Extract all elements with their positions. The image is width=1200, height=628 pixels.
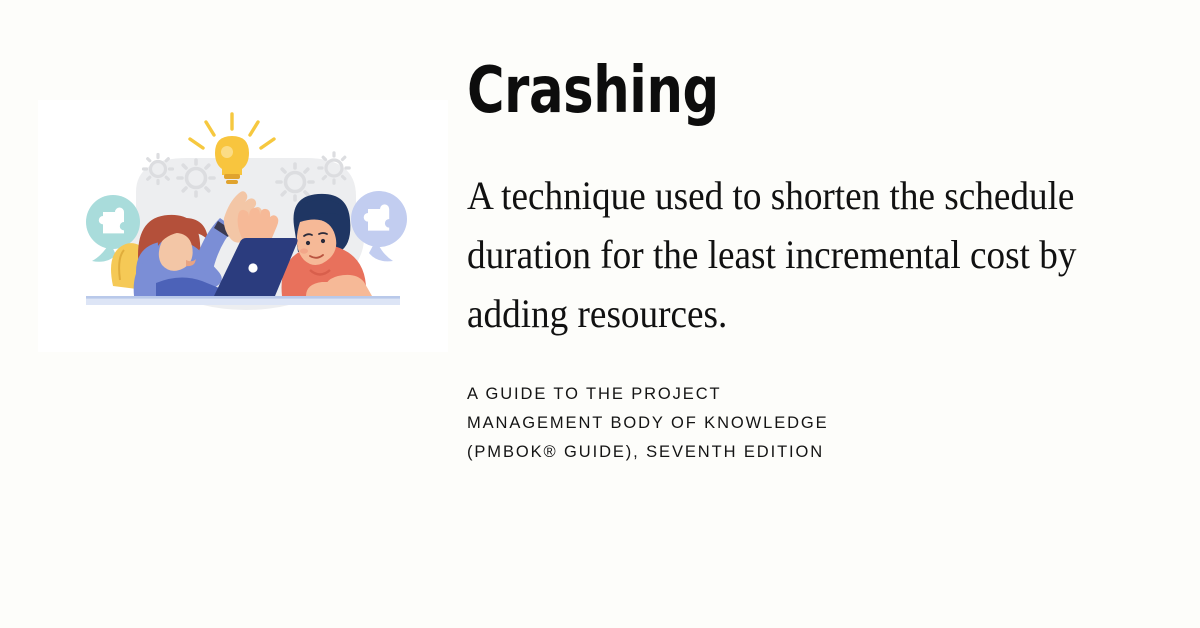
definition-text: A technique used to shorten the schedule… (467, 166, 1118, 343)
lightbulb-highlight (221, 146, 233, 158)
glossary-card: Crashing A technique used to shorten the… (0, 0, 1200, 628)
illustration-panel (38, 100, 448, 352)
desk-surface (86, 296, 400, 305)
text-column: Crashing A technique used to shorten the… (467, 0, 1177, 628)
teamwork-illustration (38, 100, 448, 352)
page-title: Crashing (467, 58, 719, 125)
lightbulb-screw (226, 180, 238, 184)
lightbulb-base (224, 174, 240, 179)
source-citation: A Guide to the Project Management Body o… (467, 380, 829, 467)
laptop-logo (248, 263, 257, 272)
